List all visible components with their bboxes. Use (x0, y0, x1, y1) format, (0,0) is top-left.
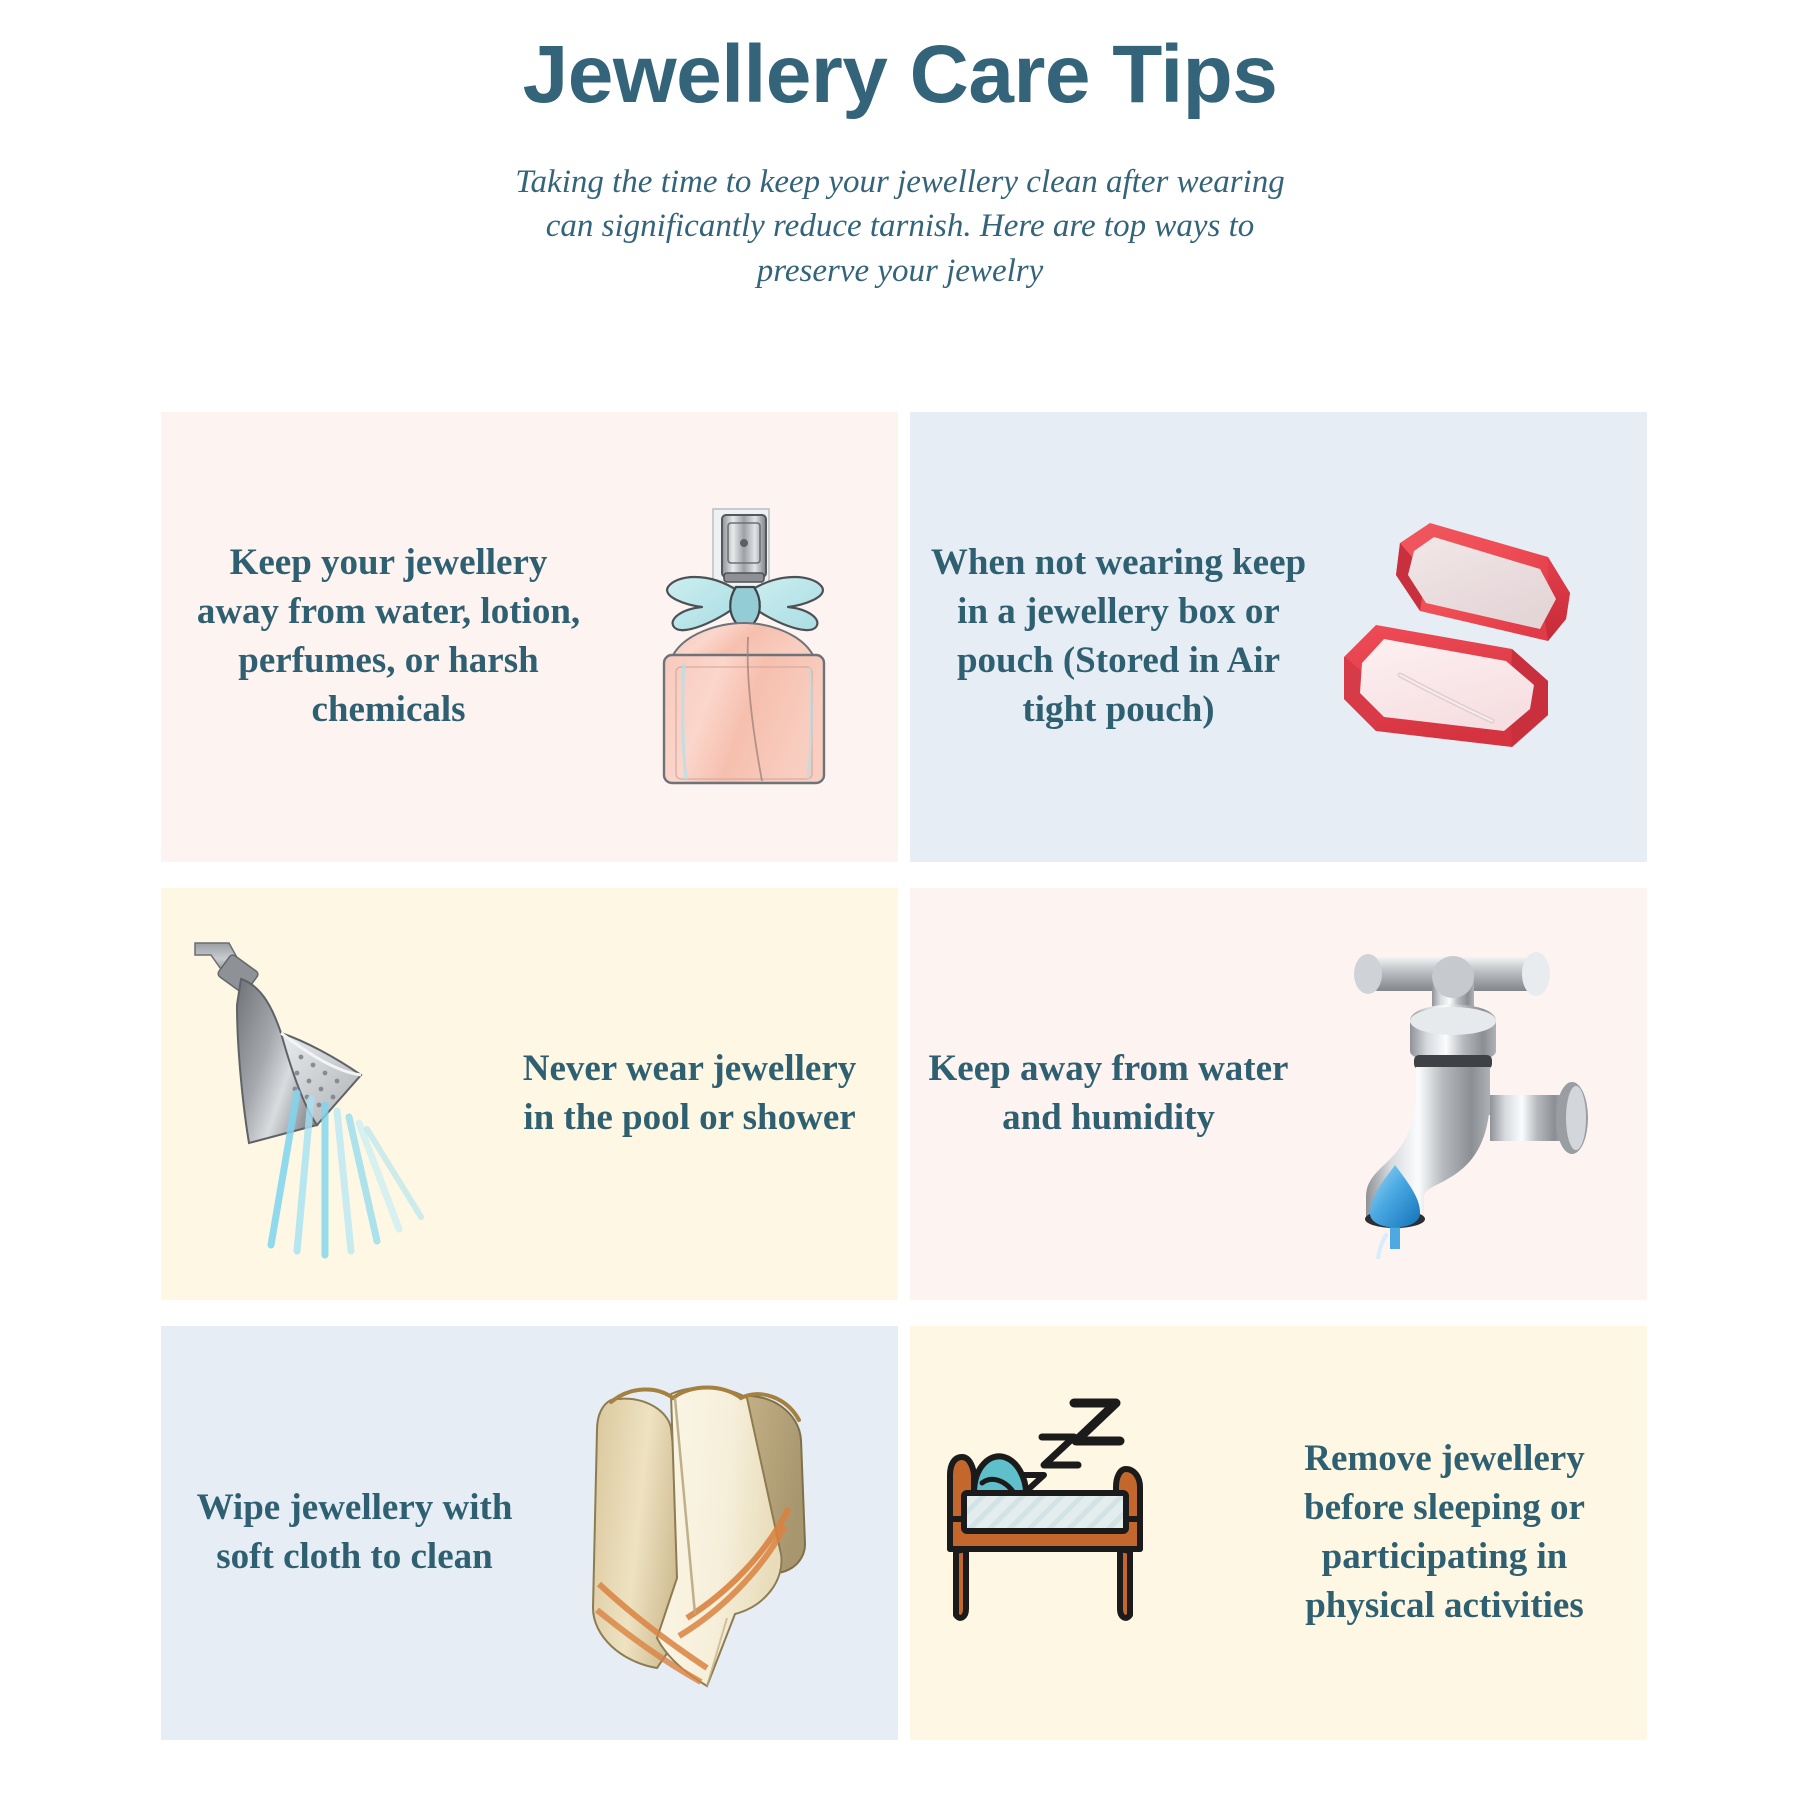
cloth-icon (550, 1368, 890, 1698)
tip-card-shower: Never wear jewellery in the pool or show… (161, 888, 898, 1300)
shower-head-icon (170, 929, 510, 1259)
infographic-page: Jewellery Care Tips Taking the time to k… (0, 0, 1800, 1800)
bed-sleeping-icon (919, 1383, 1269, 1683)
tip-card-jewellery-box-label: When not wearing keep in a jewellery box… (919, 539, 1319, 734)
perfume-bottle-icon (590, 487, 890, 787)
tip-card-perfume-label: Keep your jewellery away from water, lot… (170, 539, 590, 734)
tip-card-perfume: Keep your jewellery away from water, lot… (161, 412, 898, 862)
header: Jewellery Care Tips Taking the time to k… (0, 0, 1800, 293)
page-title: Jewellery Care Tips (0, 0, 1800, 120)
ring-box-icon (1319, 507, 1639, 767)
tip-card-jewellery-box: When not wearing keep in a jewellery box… (910, 412, 1647, 862)
page-subtitle: Taking the time to keep your jewellery c… (505, 120, 1295, 293)
tip-card-cloth: Wipe jewellery with soft cloth to clean (161, 1326, 898, 1740)
tip-card-sleep-label: Remove jewellery before sleeping or part… (1269, 1435, 1639, 1630)
faucet-icon (1289, 929, 1639, 1259)
tip-card-water: Keep away from water and humidity (910, 888, 1647, 1300)
tip-card-sleep: Remove jewellery before sleeping or part… (910, 1326, 1647, 1740)
tip-card-water-label: Keep away from water and humidity (919, 1045, 1289, 1143)
tip-card-shower-label: Never wear jewellery in the pool or show… (510, 1045, 890, 1143)
tips-grid: Keep your jewellery away from water, lot… (161, 412, 1640, 1740)
tip-card-cloth-label: Wipe jewellery with soft cloth to clean (170, 1484, 550, 1582)
